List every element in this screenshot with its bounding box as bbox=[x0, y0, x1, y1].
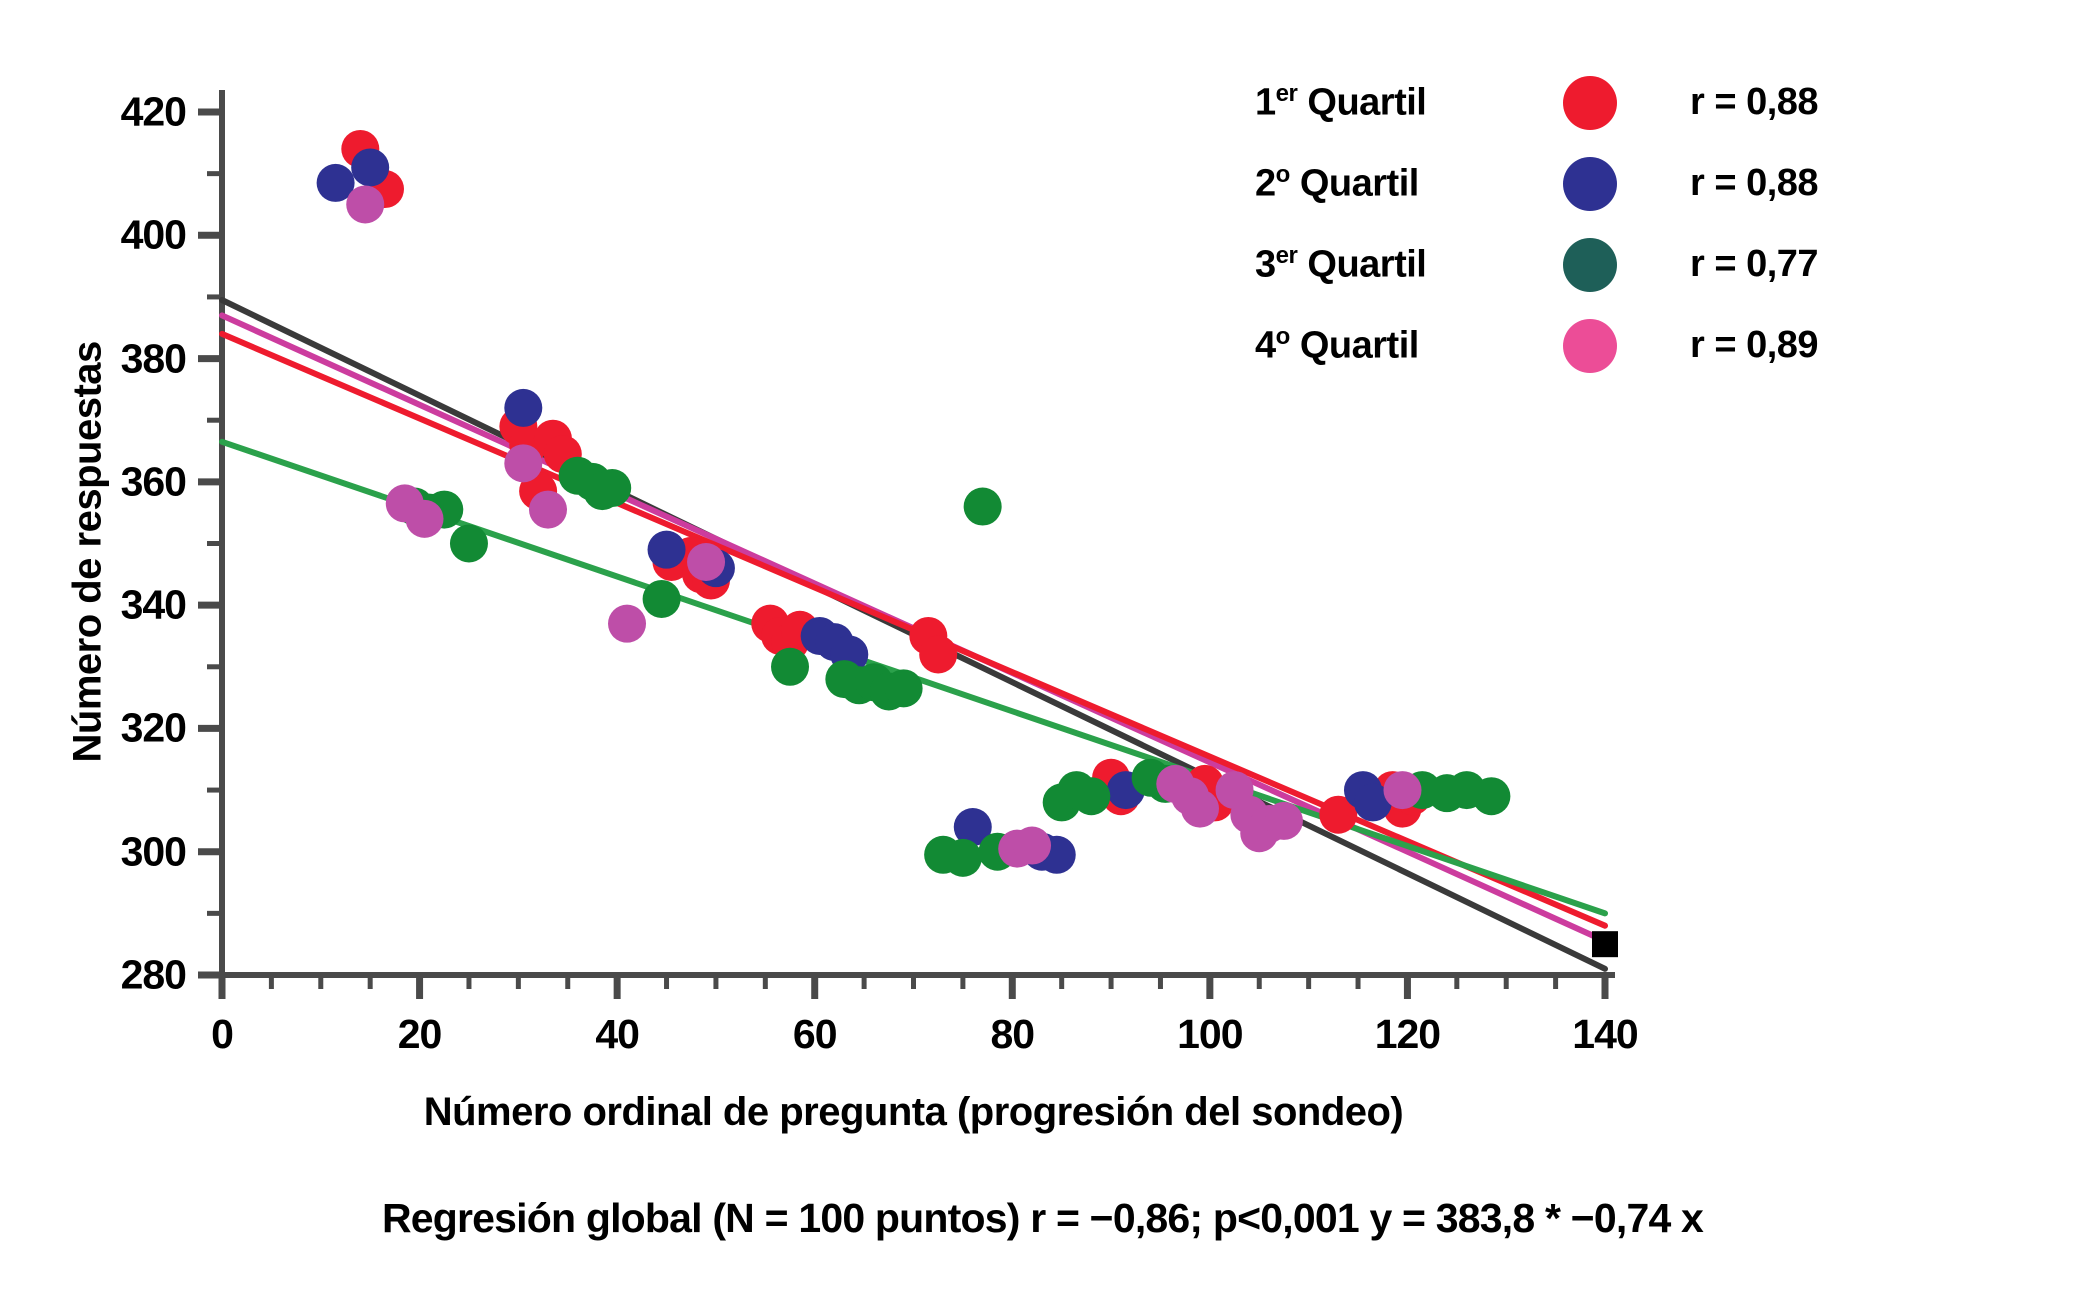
legend-swatch bbox=[1530, 319, 1650, 373]
data-point-series-2-9 bbox=[771, 648, 809, 686]
legend-label-text: Quartil bbox=[1297, 244, 1426, 286]
data-point-series-3-17 bbox=[1383, 771, 1421, 809]
endpoint-marker-layer bbox=[1592, 931, 1618, 957]
y-tick-label: 280 bbox=[36, 952, 186, 999]
x-axis-title: Número ordinal de pregunta (progresión d… bbox=[222, 1090, 1605, 1135]
figure-caption: Regresión global (N = 100 puntos) r = −0… bbox=[0, 1195, 2085, 1242]
legend-row[interactable]: 2o Quartilr = 0,88 bbox=[1255, 143, 1975, 224]
data-point-series-3-6 bbox=[687, 543, 725, 581]
legend-label-number: 3 bbox=[1255, 244, 1276, 286]
legend-swatch bbox=[1530, 76, 1650, 130]
legend-label-text: Quartil bbox=[1290, 163, 1419, 205]
data-point-series-3-5 bbox=[608, 605, 646, 643]
legend-label: 2o Quartil bbox=[1255, 161, 1530, 206]
y-tick-label: 380 bbox=[36, 335, 186, 382]
data-point-series-0-16 bbox=[919, 635, 957, 673]
legend-label-number: 2 bbox=[1255, 163, 1276, 205]
legend-label-ordinal-suffix: er bbox=[1276, 242, 1298, 269]
data-point-series-2-3 bbox=[450, 525, 488, 563]
legend-correlation-value: r = 0,77 bbox=[1650, 243, 1975, 286]
legend-label: 3er Quartil bbox=[1255, 242, 1530, 287]
data-point-series-3-11 bbox=[1181, 790, 1219, 828]
endpoint-square-marker bbox=[1592, 931, 1618, 957]
legend-color-dot-icon bbox=[1563, 76, 1617, 130]
x-tick-label: 60 bbox=[735, 1011, 895, 1058]
legend-label-number: 4 bbox=[1255, 325, 1276, 367]
x-tick-label: 100 bbox=[1130, 1011, 1290, 1058]
data-point-series-3-4 bbox=[529, 491, 567, 529]
legend-label-ordinal-suffix: er bbox=[1276, 80, 1298, 107]
y-tick-label: 340 bbox=[36, 582, 186, 629]
data-point-series-3-8 bbox=[1013, 827, 1051, 865]
y-axis-title: Número de respuestas bbox=[66, 343, 111, 763]
data-point-series-3-16 bbox=[1265, 802, 1303, 840]
x-tick-label: 20 bbox=[340, 1011, 500, 1058]
legend-swatch bbox=[1530, 238, 1650, 292]
data-point-series-3-2 bbox=[406, 500, 444, 538]
legend-row[interactable]: 3er Quartilr = 0,77 bbox=[1255, 224, 1975, 305]
legend-correlation-value: r = 0,88 bbox=[1650, 162, 1975, 205]
legend-row[interactable]: 1er Quartilr = 0,88 bbox=[1255, 62, 1975, 143]
legend-swatch bbox=[1530, 157, 1650, 211]
legend-label-ordinal-suffix: o bbox=[1276, 323, 1290, 350]
legend-label-ordinal-suffix: o bbox=[1276, 161, 1290, 188]
data-point-series-2-14 bbox=[885, 669, 923, 707]
data-point-series-1-2 bbox=[504, 389, 542, 427]
data-point-series-1-1 bbox=[351, 148, 389, 186]
legend-label-text: Quartil bbox=[1297, 82, 1426, 124]
legend: 1er Quartilr = 0,882o Quartilr = 0,883er… bbox=[1255, 62, 1975, 386]
data-point-series-2-8 bbox=[643, 580, 681, 618]
legend-label: 1er Quartil bbox=[1255, 80, 1530, 125]
data-point-series-1-3 bbox=[648, 531, 686, 569]
x-tick-label: 120 bbox=[1327, 1011, 1487, 1058]
x-tick-label: 40 bbox=[537, 1011, 697, 1058]
data-point-series-2-17 bbox=[964, 488, 1002, 526]
x-tick-label: 80 bbox=[932, 1011, 1092, 1058]
data-point-series-2-21 bbox=[1072, 777, 1110, 815]
data-point-series-2-7 bbox=[593, 469, 631, 507]
legend-correlation-value: r = 0,89 bbox=[1650, 324, 1975, 367]
figure-root: 280300320340360380400420 020406080100120… bbox=[0, 0, 2085, 1291]
legend-color-dot-icon bbox=[1563, 319, 1617, 373]
legend-color-dot-icon bbox=[1563, 157, 1617, 211]
legend-label: 4o Quartil bbox=[1255, 323, 1530, 368]
y-tick-label: 320 bbox=[36, 705, 186, 752]
data-point-series-3-3 bbox=[504, 444, 542, 482]
y-tick-label: 400 bbox=[36, 212, 186, 259]
legend-label-number: 1 bbox=[1255, 82, 1276, 124]
legend-row[interactable]: 4o Quartilr = 0,89 bbox=[1255, 305, 1975, 386]
y-tick-label: 300 bbox=[36, 828, 186, 875]
data-point-series-2-16 bbox=[944, 839, 982, 877]
x-tick-label: 0 bbox=[142, 1011, 302, 1058]
x-tick-label: 140 bbox=[1525, 1011, 1685, 1058]
legend-label-text: Quartil bbox=[1290, 325, 1419, 367]
legend-color-dot-icon bbox=[1563, 238, 1617, 292]
y-tick-label: 360 bbox=[36, 458, 186, 505]
legend-correlation-value: r = 0,88 bbox=[1650, 81, 1975, 124]
y-tick-label: 420 bbox=[36, 89, 186, 136]
data-point-series-2-27 bbox=[1472, 777, 1510, 815]
data-point-series-3-0 bbox=[346, 185, 384, 223]
